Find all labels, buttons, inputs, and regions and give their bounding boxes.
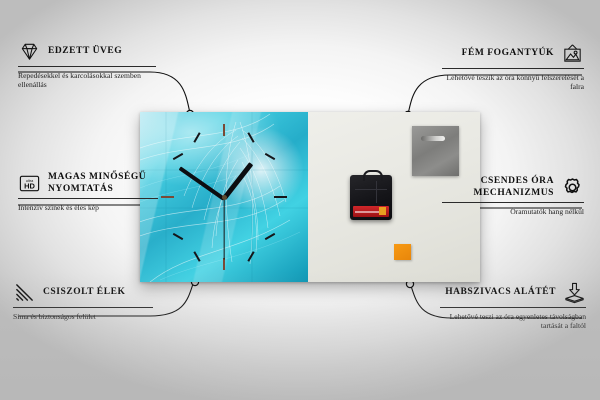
- gear-icon: [561, 176, 584, 199]
- callout-metal-handles: FÉM FOGANTYÚK Lehetővé teszik az óra kön…: [442, 42, 584, 92]
- callout-title: FÉM FOGANTYÚK: [462, 48, 554, 60]
- callout-silent-clock-mechanism: CSENDES ÓRA MECHANIZMUS Óramutatók hang …: [442, 176, 584, 216]
- callout-header: CSISZOLT ÉLEK: [13, 281, 153, 304]
- callout-header: FÉM FOGANTYÚK: [442, 42, 584, 65]
- hanger-slot: [421, 136, 445, 141]
- product-image: [140, 112, 480, 282]
- callout-description: Óramutatók hang nélkül: [442, 207, 584, 217]
- callout-rule: [13, 307, 153, 308]
- foam-pad: [394, 244, 411, 260]
- second-hand: [223, 198, 224, 260]
- metal-hanger-bracket: [412, 126, 459, 176]
- callout-title: MAGAS MINŐSÉGŰ NYOMTATÁS: [48, 172, 158, 195]
- quartz-movement: [350, 175, 392, 220]
- battery-plus-terminal: [379, 207, 386, 215]
- clock-front-face: [140, 112, 310, 282]
- infographic-canvas: EDZETT ÜVEG Repedésekkel és karcolásokka…: [0, 0, 600, 400]
- callout-tempered-glass: EDZETT ÜVEG Repedésekkel és karcolásokka…: [18, 40, 156, 90]
- callout-description: Intenzív színek és éles kép: [18, 203, 158, 213]
- ultra-hd-icon-hd: HD: [24, 182, 35, 191]
- diamond-icon: [18, 40, 41, 63]
- battery-label-bar: [355, 211, 381, 213]
- tick-3: [274, 196, 287, 198]
- picture-frame-hanger-icon: [561, 42, 584, 65]
- callout-rule: [442, 202, 584, 203]
- tick-6: [223, 258, 225, 270]
- tick-12: [223, 124, 225, 136]
- callout-title: CSISZOLT ÉLEK: [43, 287, 125, 299]
- callout-high-quality-print: ultra HD MAGAS MINŐSÉGŰ NYOMTATÁS Intenz…: [18, 172, 158, 212]
- polished-edges-icon: [13, 281, 36, 304]
- callout-header: EDZETT ÜVEG: [18, 40, 156, 63]
- callout-description: Sima és biztonságos felület: [13, 312, 153, 322]
- callout-polished-edges: CSISZOLT ÉLEK Sima és biztonságos felüle…: [13, 281, 153, 321]
- callout-rule: [442, 68, 584, 69]
- movement-loop: [363, 170, 383, 181]
- hands-pivot: [222, 195, 227, 200]
- callout-description: Repedésekkel és karcolásokkal szemben el…: [18, 71, 156, 90]
- callout-header: CSENDES ÓRA MECHANIZMUS: [442, 176, 584, 199]
- ultra-hd-icon: ultra HD: [18, 172, 41, 195]
- callout-title: EDZETT ÜVEG: [48, 46, 122, 58]
- battery: [353, 206, 389, 217]
- foam-pad-arrow-icon: [563, 281, 586, 304]
- callout-title: CSENDES ÓRA MECHANIZMUS: [442, 176, 554, 199]
- callout-rule: [18, 66, 156, 67]
- movement-seam: [355, 189, 387, 190]
- callout-header: HABSZIVACS ALÁTÉT: [440, 281, 586, 304]
- callout-description: Lehetővé teszik az óra könnyű felszerelé…: [442, 73, 584, 92]
- tick-9: [161, 196, 174, 198]
- callout-title: HABSZIVACS ALÁTÉT: [445, 287, 556, 299]
- movement-seam-vertical: [376, 181, 377, 203]
- callout-header: ultra HD MAGAS MINŐSÉGŰ NYOMTATÁS: [18, 172, 158, 195]
- callout-description: Lehetővé teszi az óra egyenletes távolsá…: [440, 312, 586, 331]
- callout-rule: [18, 198, 158, 199]
- callout-rule: [440, 307, 586, 308]
- callout-foam-pad: HABSZIVACS ALÁTÉT Lehetővé teszi az óra …: [440, 281, 586, 331]
